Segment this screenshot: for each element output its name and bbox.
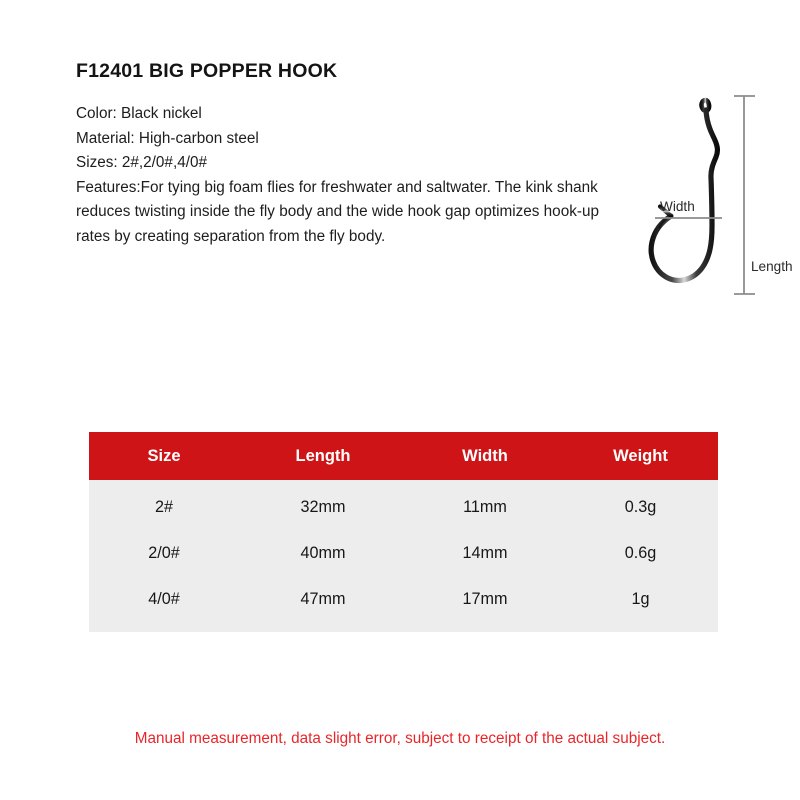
product-description: Color: Black nickel Material: High-carbo… bbox=[76, 102, 611, 250]
cell-length: 32mm bbox=[239, 480, 407, 530]
cell-length: 40mm bbox=[239, 530, 407, 576]
table-row: 4/0# 47mm 17mm 1g bbox=[89, 576, 718, 632]
width-dimension-label: Width bbox=[660, 199, 695, 214]
table-header-row: Size Length Width Weight bbox=[89, 432, 718, 480]
spec-features: Features:For tying big foam flies for fr… bbox=[76, 176, 611, 250]
table-row: 2/0# 40mm 14mm 0.6g bbox=[89, 530, 718, 576]
spec-color: Color: Black nickel bbox=[76, 102, 611, 127]
spec-material: Material: High-carbon steel bbox=[76, 127, 611, 152]
cell-width: 14mm bbox=[407, 530, 563, 576]
disclaimer-note: Manual measurement, data slight error, s… bbox=[0, 730, 800, 748]
spec-sizes: Sizes: 2#,2/0#,4/0# bbox=[76, 151, 611, 176]
cell-size: 2/0# bbox=[89, 530, 239, 576]
cell-width: 17mm bbox=[407, 576, 563, 632]
fishing-hook-icon bbox=[630, 80, 800, 310]
cell-weight: 0.6g bbox=[563, 530, 718, 576]
hook-shank-and-bend bbox=[651, 110, 717, 280]
cell-weight: 1g bbox=[563, 576, 718, 632]
length-dimension-label: Length bbox=[751, 259, 793, 274]
column-header-weight: Weight bbox=[563, 432, 718, 480]
cell-weight: 0.3g bbox=[563, 480, 718, 530]
cell-width: 11mm bbox=[407, 480, 563, 530]
specification-table: Size Length Width Weight 2# 32mm 11mm 0.… bbox=[89, 432, 718, 632]
column-header-width: Width bbox=[407, 432, 563, 480]
cell-size: 4/0# bbox=[89, 576, 239, 632]
column-header-size: Size bbox=[89, 432, 239, 480]
cell-size: 2# bbox=[89, 480, 239, 530]
cell-length: 47mm bbox=[239, 576, 407, 632]
product-image: Length Width bbox=[630, 80, 800, 310]
page-title: F12401 BIG POPPER HOOK bbox=[76, 60, 337, 83]
table-row: 2# 32mm 11mm 0.3g bbox=[89, 480, 718, 530]
column-header-length: Length bbox=[239, 432, 407, 480]
